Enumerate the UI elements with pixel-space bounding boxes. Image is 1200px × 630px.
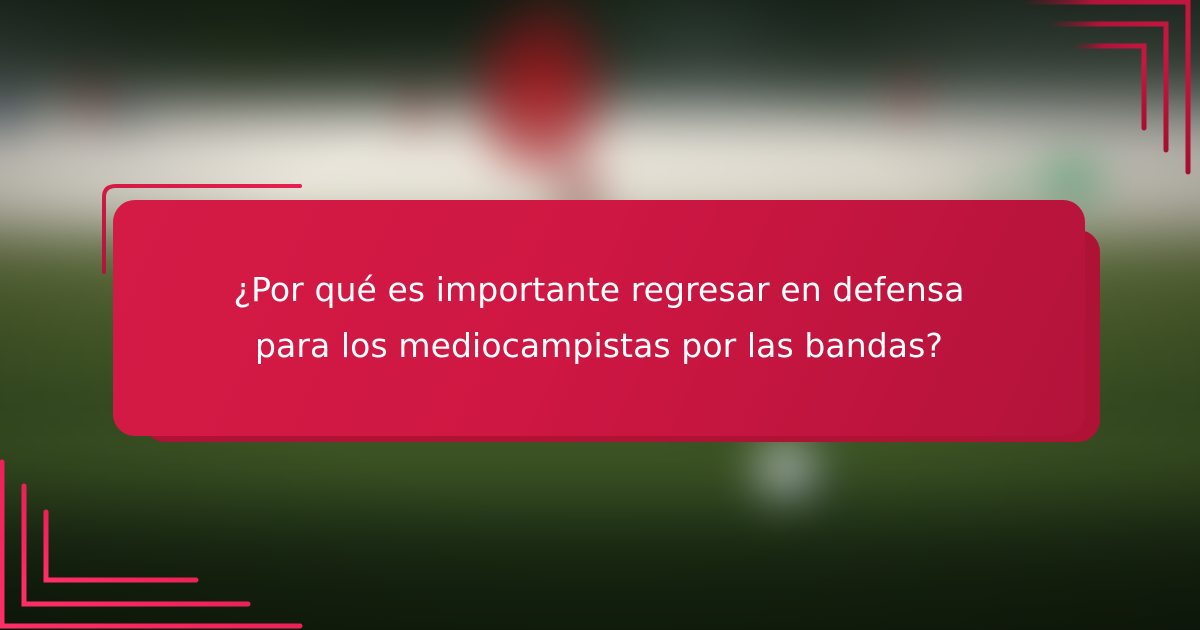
headline-line-1: ¿Por qué es importante regresar en defen…	[159, 262, 1039, 318]
share-card-canvas: ¿Por qué es importante regresar en defen…	[0, 0, 1200, 630]
headline-line-2: para los mediocampistas por las bandas?	[159, 318, 1039, 374]
headline-card: ¿Por qué es importante regresar en defen…	[113, 200, 1085, 436]
headline-card-stack: ¿Por qué es importante regresar en defen…	[0, 0, 1200, 630]
page-title: ¿Por qué es importante regresar en defen…	[159, 262, 1039, 374]
